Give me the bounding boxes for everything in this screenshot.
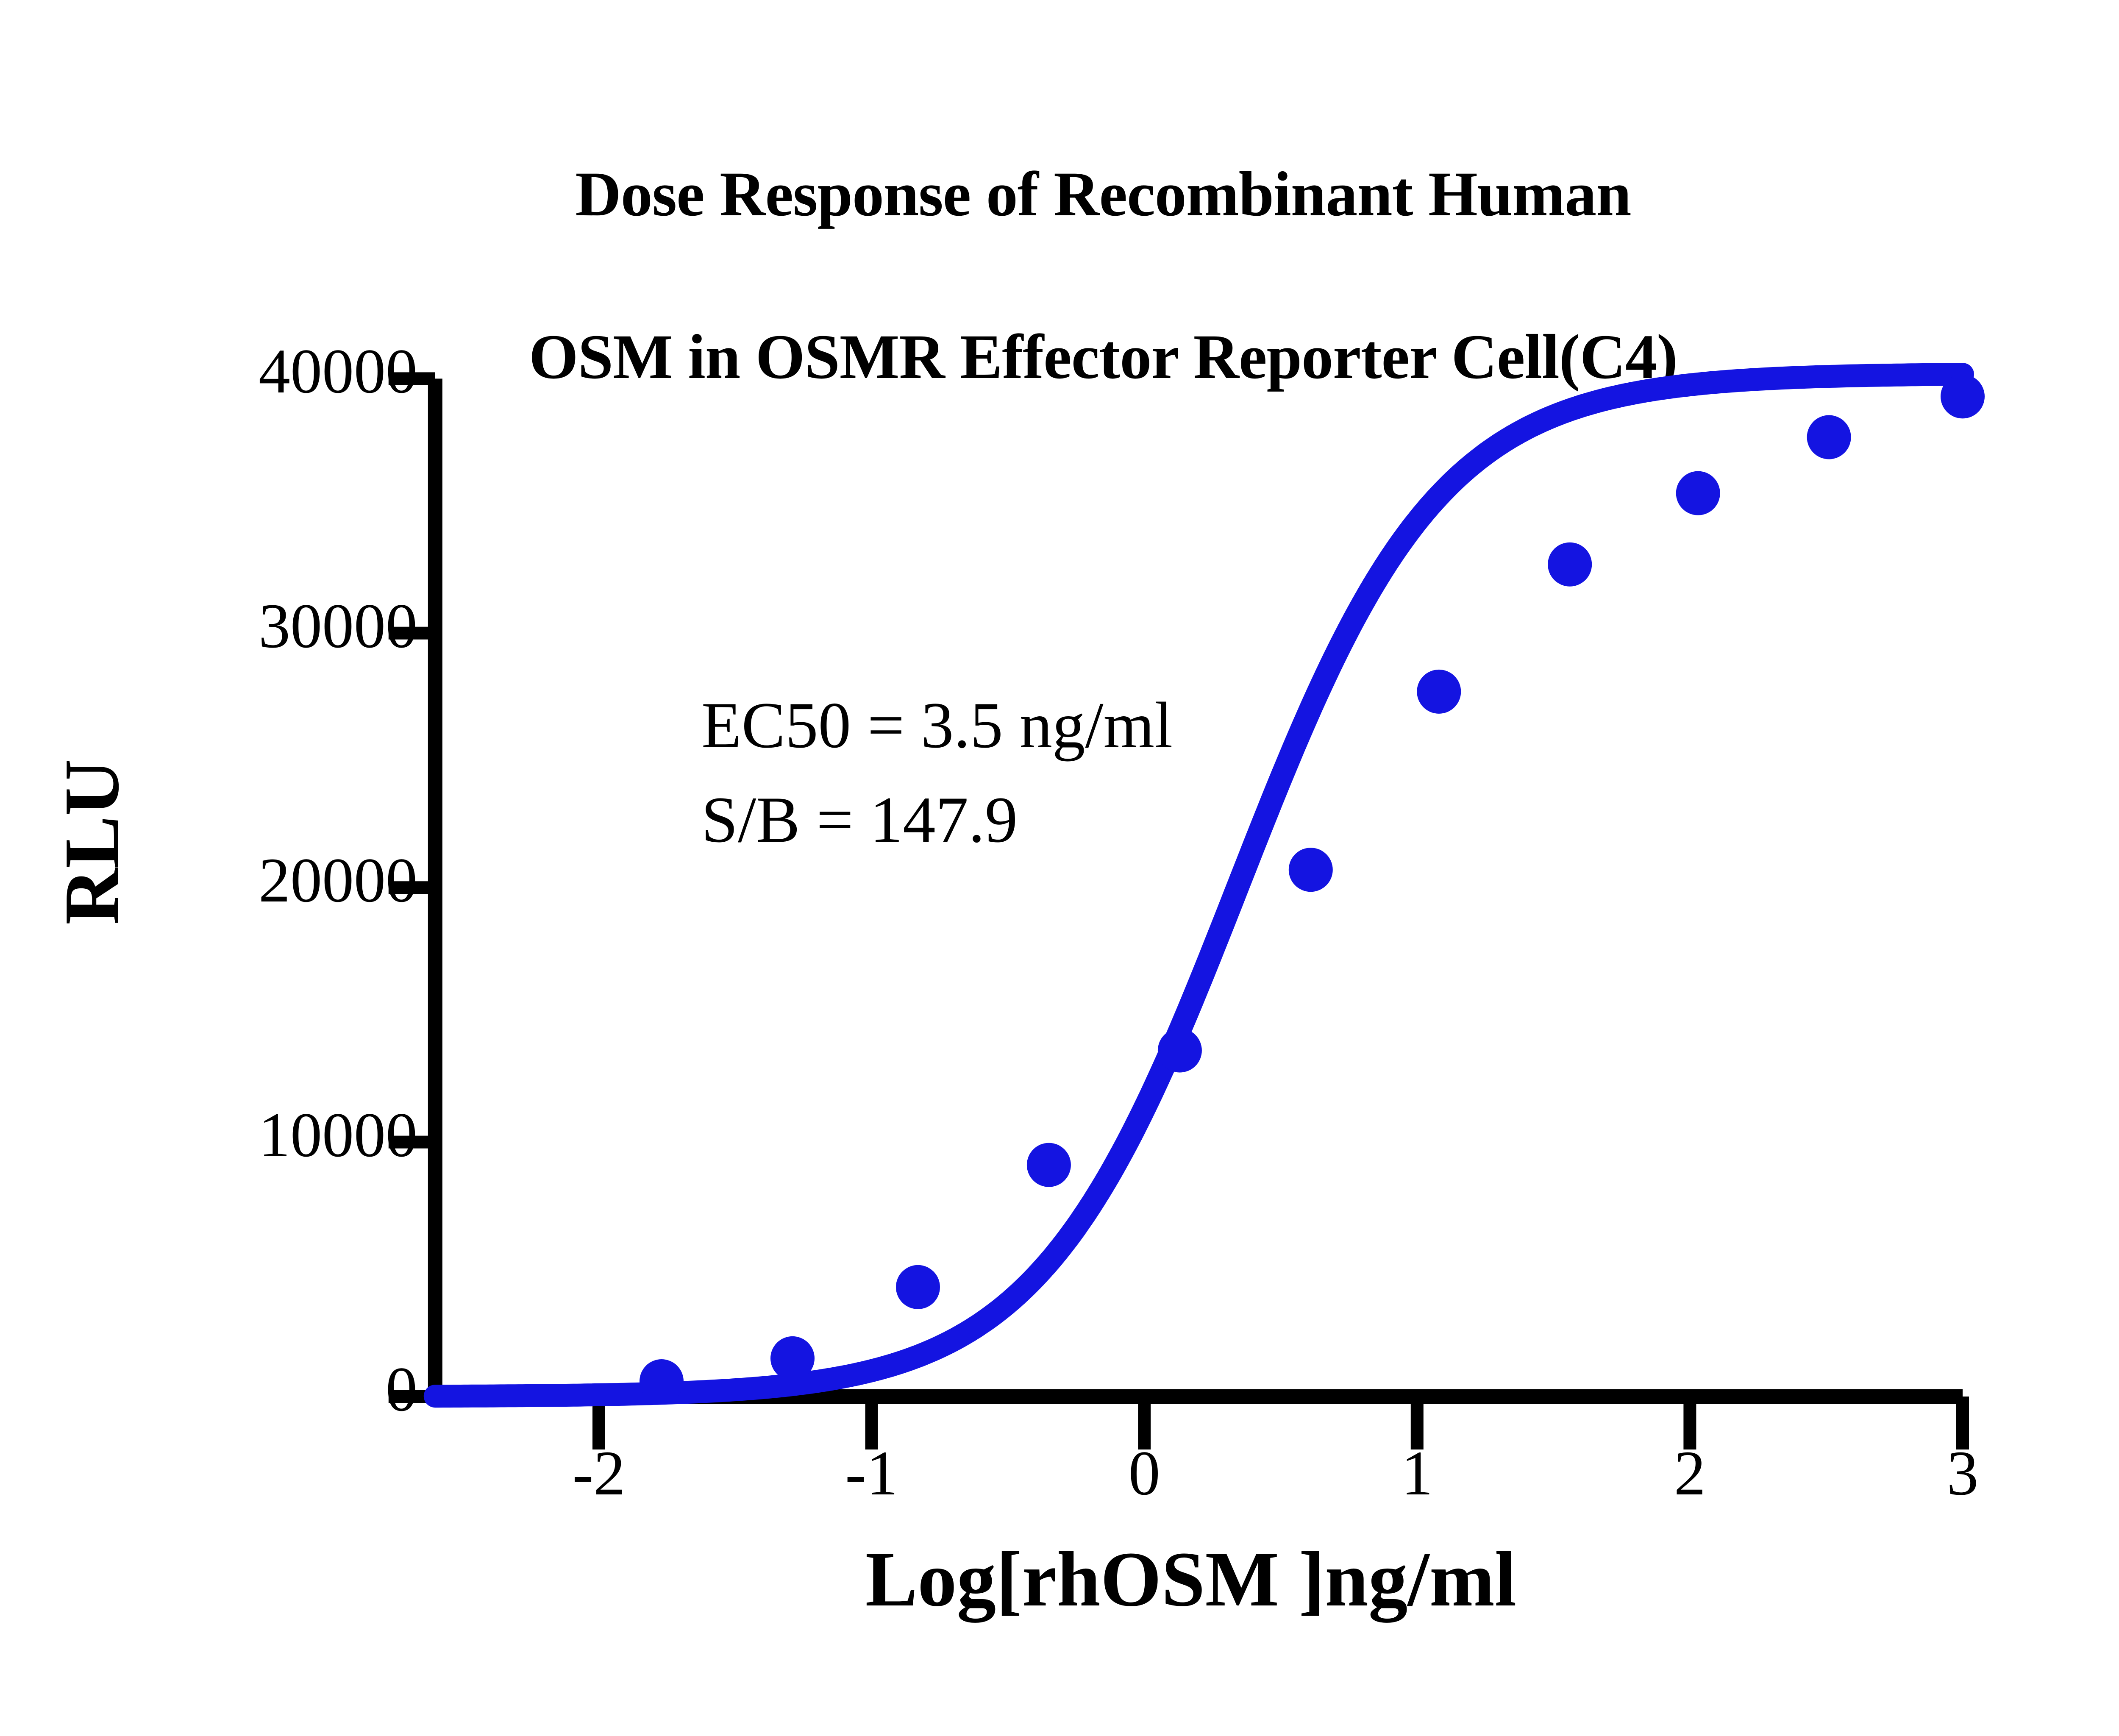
data-point-marker <box>1417 670 1461 714</box>
series-fit-line <box>435 374 1963 1396</box>
data-point-marker <box>1807 415 1851 459</box>
data-point-marker <box>1289 848 1333 892</box>
data-point-marker <box>896 1265 940 1309</box>
series-layer <box>435 374 1985 1403</box>
data-point-marker <box>770 1336 815 1380</box>
chart-figure: Dose Response of Recombinant Human OSM i… <box>0 0 2119 1736</box>
data-point-marker <box>640 1359 684 1403</box>
data-point-marker <box>1941 374 1985 418</box>
data-point-marker <box>1676 471 1720 515</box>
plot-canvas <box>0 0 2119 1736</box>
data-point-marker <box>1158 1029 1202 1073</box>
data-point-marker <box>1027 1143 1071 1187</box>
axis-layer <box>389 378 1963 1449</box>
data-point-marker <box>1548 542 1592 587</box>
